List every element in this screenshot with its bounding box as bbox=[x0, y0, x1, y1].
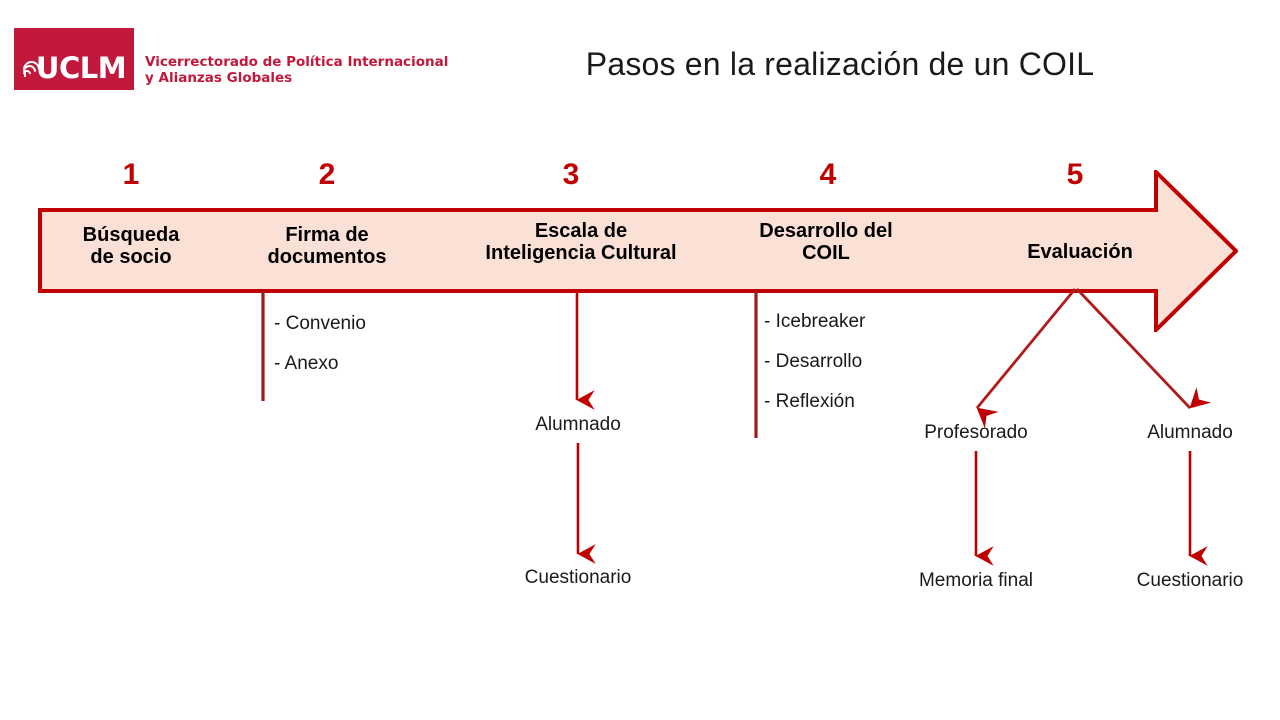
step-number-5: 5 bbox=[1045, 160, 1105, 190]
node-cuestionario-step3: Cuestionario bbox=[478, 567, 678, 589]
step-number-2: 2 bbox=[297, 160, 357, 190]
step-label-2: Firma de documentos bbox=[242, 224, 412, 269]
step-label-5: Evaluación bbox=[985, 241, 1175, 263]
node-memoria-final: Memoria final bbox=[876, 570, 1076, 592]
brand-name: Vicerrectorado de Política Internacional… bbox=[145, 54, 448, 87]
uclm-logo: UCLM bbox=[14, 28, 134, 90]
step4-sub-item-3: - Reflexión bbox=[764, 392, 865, 411]
step-label-1: Búsqueda de socio bbox=[46, 224, 216, 269]
step4-sub-item-2: - Desarrollo bbox=[764, 352, 865, 371]
step-number-1: 1 bbox=[101, 160, 161, 190]
step4-sub-item-1: - Icebreaker bbox=[764, 312, 865, 331]
page-title: Pasos en la realización de un COIL bbox=[470, 46, 1210, 83]
step-number-3: 3 bbox=[541, 160, 601, 190]
node-alumnado-step3: Alumnado bbox=[478, 414, 678, 436]
step2-sub-item-2: - Anexo bbox=[274, 354, 366, 373]
connector-lines bbox=[0, 0, 1280, 720]
step-label-3: Escala de Inteligencia Cultural bbox=[448, 220, 714, 265]
node-profesorado: Profesorado bbox=[876, 422, 1076, 444]
step2-sub-item-1: - Convenio bbox=[274, 314, 366, 333]
step4-sub-list: - Icebreaker - Desarrollo - Reflexión bbox=[764, 312, 865, 432]
wifi-antenna-icon bbox=[22, 61, 35, 77]
node-alumnado-step5: Alumnado bbox=[1090, 422, 1280, 444]
node-cuestionario-step5: Cuestionario bbox=[1090, 570, 1280, 592]
step-label-4: Desarrollo del COIL bbox=[726, 220, 926, 265]
brand-block: UCLM Vicerrectorado de Política Internac… bbox=[14, 28, 448, 90]
logo-wordmark: UCLM bbox=[36, 54, 126, 83]
step2-sub-list: - Convenio - Anexo bbox=[274, 314, 366, 394]
step-number-4: 4 bbox=[798, 160, 858, 190]
